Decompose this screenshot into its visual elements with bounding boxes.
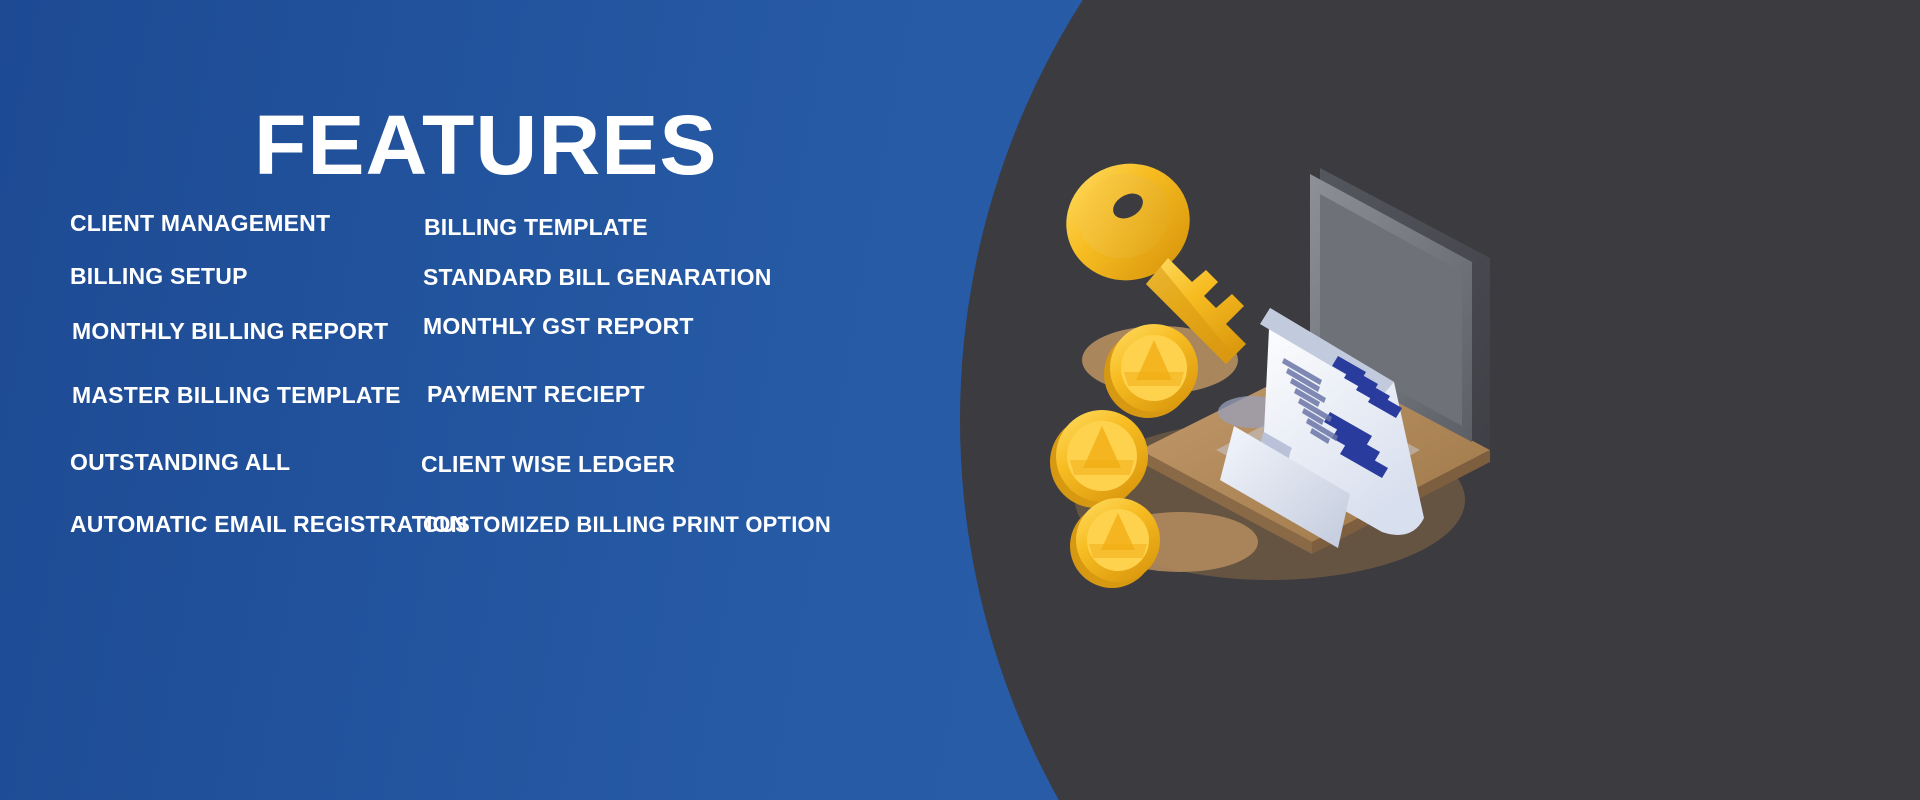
feature-item-client-wise-ledger: CLIENT WISE LEDGER xyxy=(421,451,675,477)
feature-item-monthly-billing-report: MONTHLY BILLING REPORT xyxy=(72,318,388,344)
feature-item-master-billing-template: MASTER BILLING TEMPLATE xyxy=(72,382,401,408)
feature-item-billing-setup: BILLING SETUP xyxy=(70,263,248,289)
feature-item-billing-template: BILLING TEMPLATE xyxy=(424,214,648,240)
feature-item-monthly-gst-report: MONTHLY GST REPORT xyxy=(423,313,694,339)
features-banner: FEATURES CLIENT MANAGEMENT BILLING SETUP… xyxy=(0,0,1920,800)
feature-item-standard-bill-genaration: STANDARD BILL GENARATION xyxy=(423,264,772,290)
feature-item-outstanding-all: OUTSTANDING ALL xyxy=(70,449,290,475)
isometric-billing-illustration xyxy=(1020,150,1580,610)
feature-item-customized-billing-print-option: CUSTOMIZED BILLING PRINT OPTION xyxy=(423,512,831,538)
feature-item-client-management: CLIENT MANAGEMENT xyxy=(70,210,330,236)
feature-item-automatic-email-registration: AUTOMATIC EMAIL REGISTRATION xyxy=(70,511,467,537)
feature-item-payment-reciept: PAYMENT RECIEPT xyxy=(427,381,645,407)
page-title: FEATURES xyxy=(254,103,718,187)
